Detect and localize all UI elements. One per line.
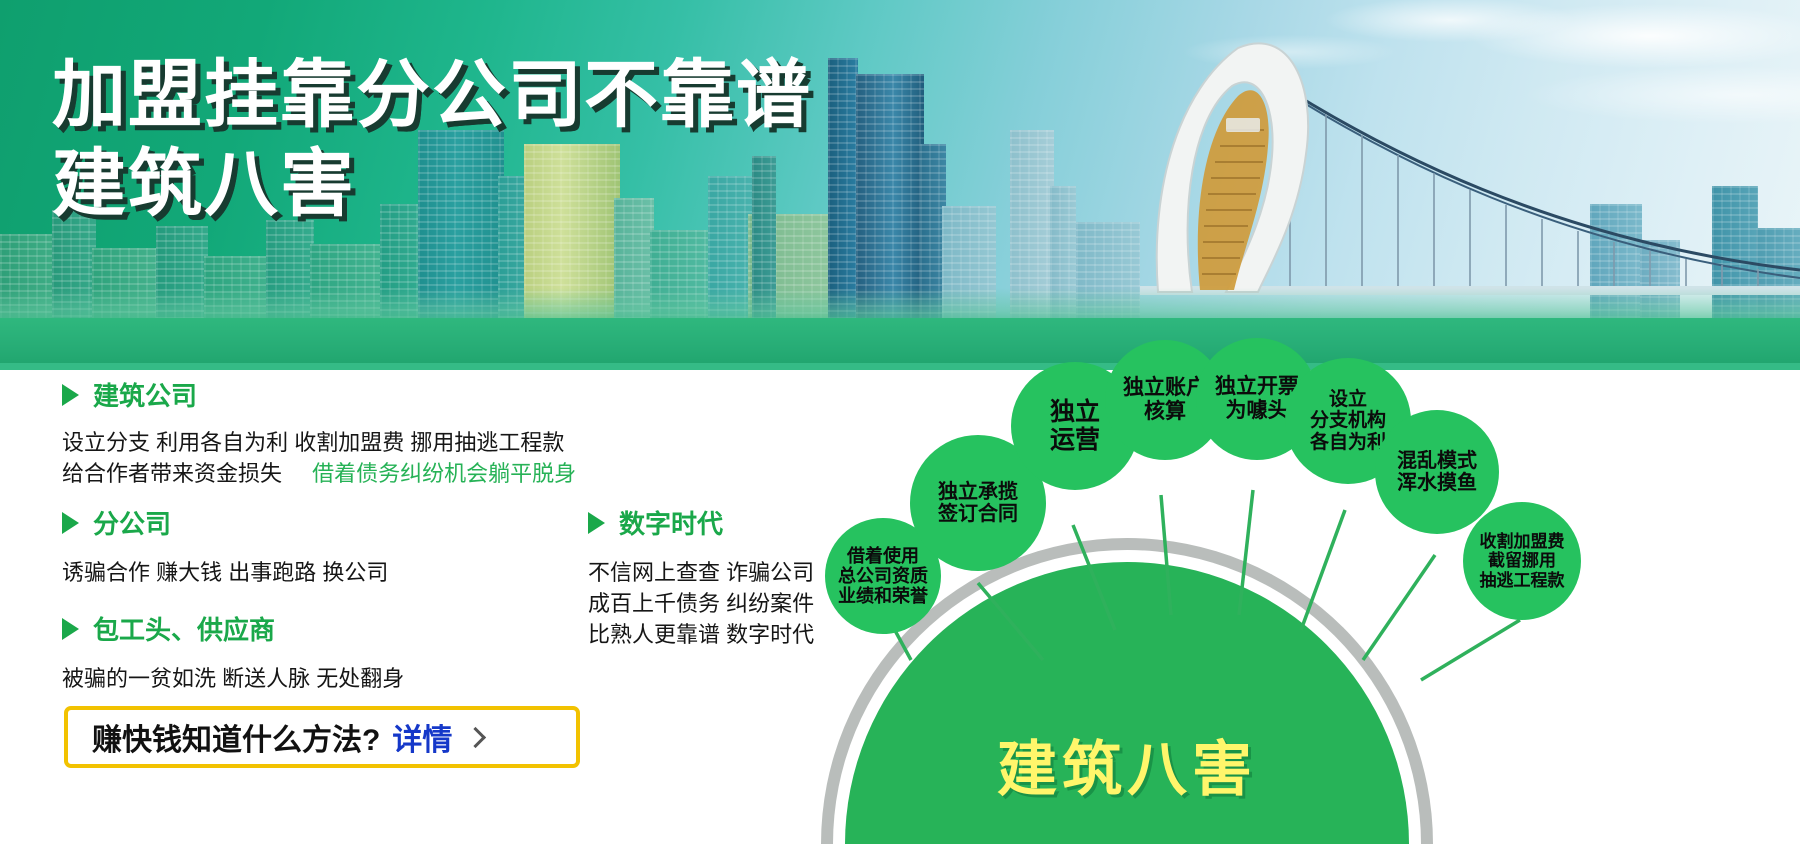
bubble-line: 核算 [1144,400,1186,423]
bubble-line: 独立 [1050,398,1100,426]
triangle-bullet-icon [588,512,605,534]
poster-root: 加盟挂靠分公司不靠谱 建筑八害 建筑公司 设立分支 利用各自为利 收割加盟费 挪… [0,0,1800,844]
cta-link-label[interactable]: 详情 [392,715,452,759]
details-cta-button[interactable]: 赚快钱知道什么方法? 详情 [64,706,580,768]
bubble-line: 独立账户 [1123,376,1207,399]
bridge-illustration [1140,34,1800,324]
bubble-line: 设立 [1329,389,1367,410]
section-body: 诱骗合作 赚大钱 出事跑路 换公司 [62,557,388,588]
section-foreman-supplier: 包工头、供应商 被骗的一贫如洗 断送人脉 无处翻身 [62,610,404,694]
section-heading: 数字时代 [588,504,814,541]
bubble-line: 收割加盟费 [1480,532,1565,551]
body-line: 不信网上查查 诈骗公司 [588,557,814,588]
triangle-bullet-icon [62,384,79,406]
section-title: 包工头、供应商 [93,610,275,647]
body-text: 给合作者带来资金损失 [62,461,282,486]
cta-main-label: 赚快钱知道什么方法? [92,715,380,759]
chevron-right-icon [465,726,486,747]
bubble-line: 混乱模式 [1397,450,1477,472]
bubble-line: 分支机构 [1310,410,1386,431]
section-body: 被骗的一贫如洗 断送人脉 无处翻身 [62,663,404,694]
body-line: 给合作者带来资金损失 借着债务纠纷机会躺平脱身 [62,458,576,489]
bubble-line: 业绩和荣誉 [838,586,928,606]
body-line: 被骗的一贫如洗 断送人脉 无处翻身 [62,663,404,694]
bubble-line: 抽逃工程款 [1480,571,1565,590]
body-line: 比熟人更靠谱 数字时代 [588,619,814,650]
body-line: 成百上千债务 纠纷案件 [588,588,814,619]
triangle-bullet-icon [62,512,79,534]
bubble-line: 浑水摸鱼 [1397,472,1477,494]
section-heading: 包工头、供应商 [62,610,404,647]
section-title: 分公司 [93,504,171,541]
section-title: 建筑公司 [93,376,197,413]
body-line: 设立分支 利用各自为利 收割加盟费 挪用抽逃工程款 [62,427,576,458]
headline-line-2: 建筑八害 [52,138,812,230]
bubble-line: 各自为利 [1310,432,1386,453]
bubble-line: 签订合同 [938,503,1018,525]
bubble-line: 总公司资质 [838,566,928,586]
left-content-column: 建筑公司 设立分支 利用各自为利 收割加盟费 挪用抽逃工程款 给合作者带来资金损… [0,376,830,844]
section-heading: 建筑公司 [62,376,576,413]
hero-banner: 加盟挂靠分公司不靠谱 建筑八害 [0,0,1800,370]
bubble-line: 运营 [1050,426,1100,454]
section-body: 不信网上查查 诈骗公司 成百上千债务 纠纷案件 比熟人更靠谱 数字时代 [588,557,814,650]
triangle-bullet-icon [62,618,79,640]
page-title: 加盟挂靠分公司不靠谱 建筑八害 [52,52,812,230]
section-construction-company: 建筑公司 设立分支 利用各自为利 收割加盟费 挪用抽逃工程款 给合作者带来资金损… [62,376,576,489]
bubble-line: 借着使用 [847,546,919,566]
section-title: 数字时代 [619,504,723,541]
bubble-line: 独立开票 [1215,375,1299,398]
bubble-harvest-fee[interactable]: 收割加盟费 截留挪用 抽逃工程款 [1463,502,1581,620]
section-heading: 分公司 [62,504,388,541]
section-branch-company: 分公司 诱骗合作 赚大钱 出事跑路 换公司 [62,504,388,588]
bubble-chaotic-mode[interactable]: 混乱模式 浑水摸鱼 [1375,410,1499,534]
bubble-line: 为噱头 [1226,399,1289,422]
section-body: 设立分支 利用各自为利 收割加盟费 挪用抽逃工程款 给合作者带来资金损失 借着债… [62,427,576,489]
bubble-line: 独立承揽 [938,481,1018,503]
eight-harms-diagram: 建筑八害 借着使用 总公司资质 业绩和荣誉 独立承揽 签订合同 独立 运营 [815,330,1800,844]
body-accent-text: 借着债务纠纷机会躺平脱身 [312,461,576,486]
section-digital-era: 数字时代 不信网上查查 诈骗公司 成百上千债务 纠纷案件 比熟人更靠谱 数字时代 [588,504,814,650]
headline-line-1: 加盟挂靠分公司不靠谱 [52,52,812,138]
bubble-line: 截留挪用 [1488,551,1556,570]
body-line: 诱骗合作 赚大钱 出事跑路 换公司 [62,557,388,588]
